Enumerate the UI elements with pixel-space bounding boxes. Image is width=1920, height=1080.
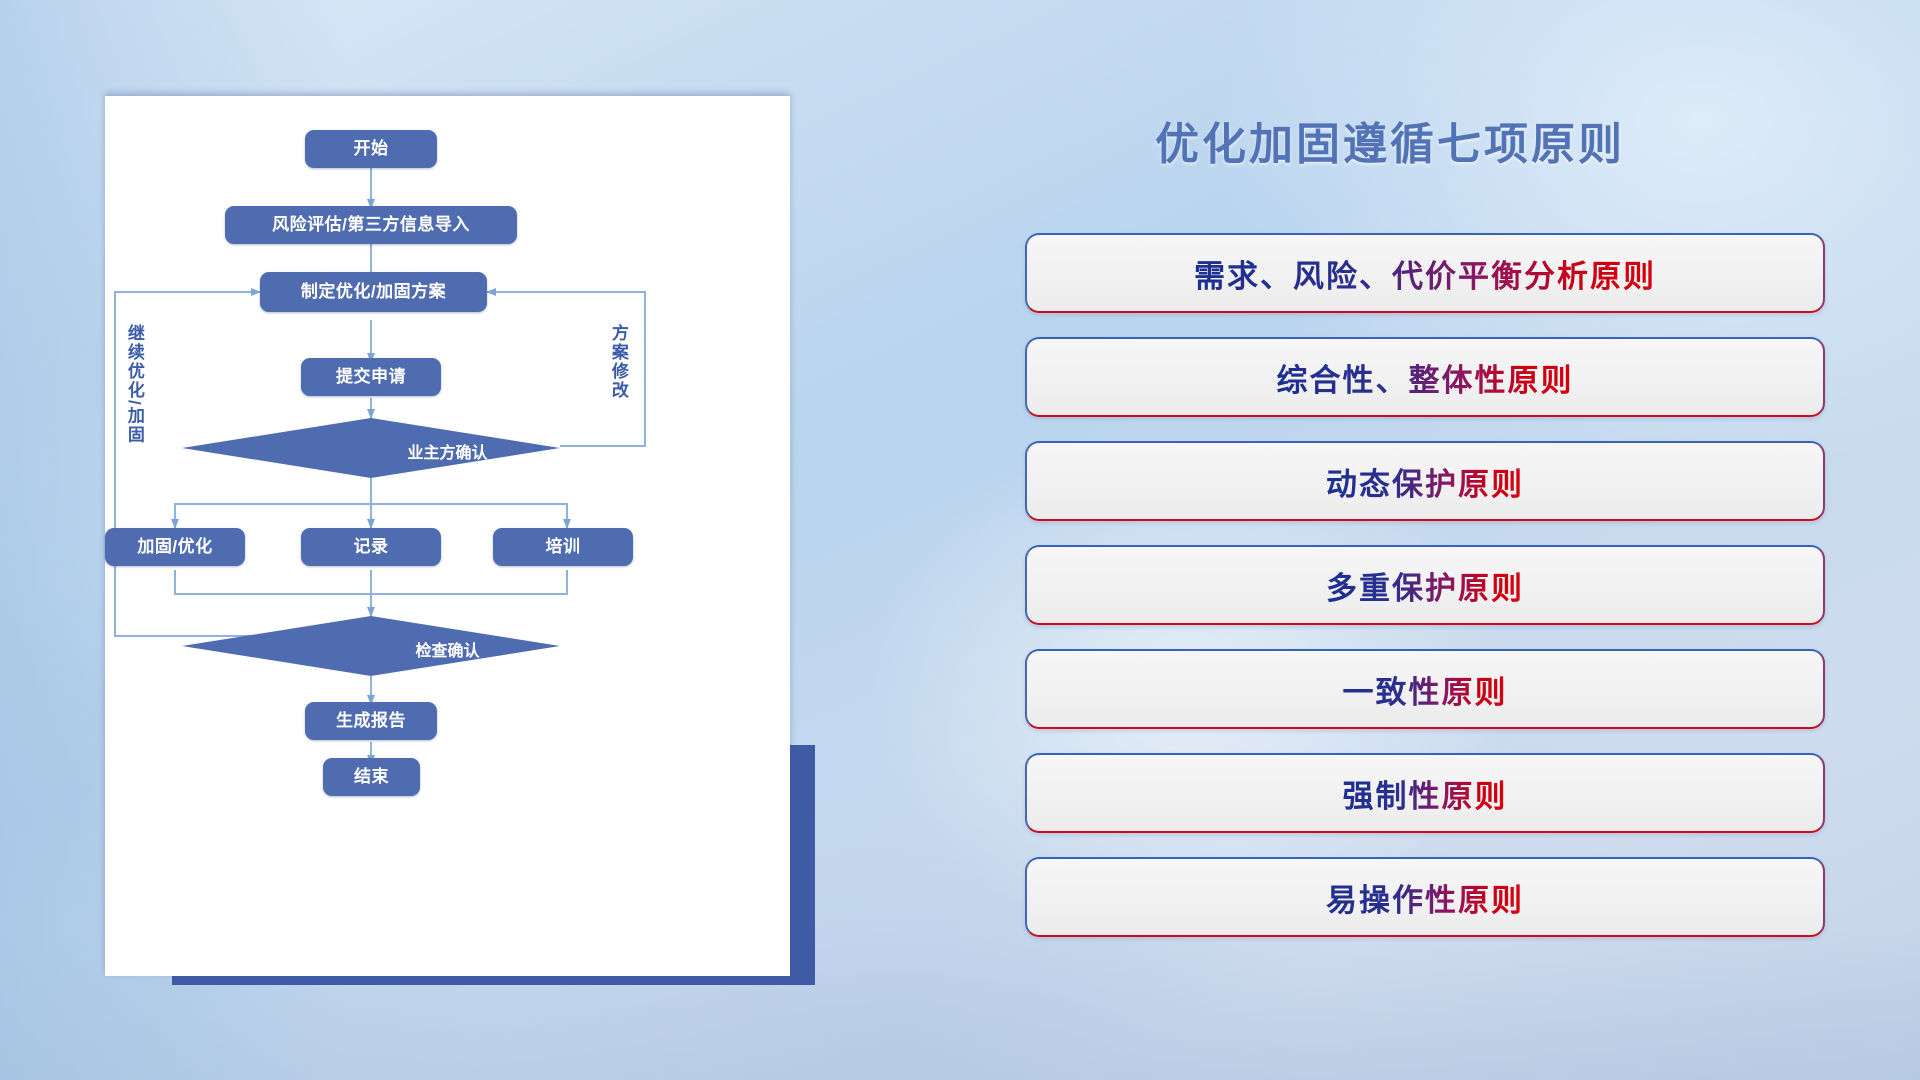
principle-label: 多重保护原则 — [1326, 563, 1524, 608]
flow-node-owner-label: 业主方确认 — [105, 439, 790, 463]
flow-node-submit[interactable]: 提交申请 — [301, 358, 441, 396]
flow-node-label: 风险评估/第三方信息导入 — [272, 216, 470, 235]
edge-label-continue-optimize: 继续优化/加固 — [125, 324, 143, 445]
principle-item[interactable]: 综合性、整体性原则 — [1025, 337, 1825, 417]
flow-node-risk[interactable]: 风险评估/第三方信息导入 — [225, 206, 517, 244]
flow-node-check-label: 检查确认 — [105, 637, 790, 661]
principle-item[interactable]: 多重保护原则 — [1025, 545, 1825, 625]
flow-node-report[interactable]: 生成报告 — [305, 702, 437, 740]
flow-node-end[interactable]: 结束 — [323, 758, 420, 796]
principle-label: 一致性原则 — [1343, 667, 1508, 712]
principle-label: 综合性、整体性原则 — [1277, 355, 1574, 400]
principle-item[interactable]: 需求、风险、代价平衡分析原则 — [1025, 233, 1825, 313]
flow-node-training[interactable]: 培训 — [493, 528, 633, 566]
principle-item[interactable]: 一致性原则 — [1025, 649, 1825, 729]
edge-label-plan-revision: 方案修改 — [609, 324, 627, 400]
principles-list: 需求、风险、代价平衡分析原则 综合性、整体性原则 动态保护原则 多重保护原则 一… — [1025, 233, 1825, 961]
flow-node-label: 结束 — [354, 768, 389, 787]
principle-label: 强制性原则 — [1343, 771, 1508, 816]
flow-node-record[interactable]: 记录 — [301, 528, 441, 566]
principle-label: 需求、风险、代价平衡分析原则 — [1194, 251, 1656, 296]
flowchart-card: 开始 风险评估/第三方信息导入 制定优化/加固方案 提交申请 业主方确认 加固/… — [105, 96, 790, 976]
flow-node-label: 开始 — [354, 140, 389, 159]
flow-node-label: 提交申请 — [336, 368, 406, 387]
page-title: 优化加固遵循七项原则 — [1155, 108, 1625, 172]
principle-item[interactable]: 强制性原则 — [1025, 753, 1825, 833]
flow-node-label: 生成报告 — [336, 712, 406, 731]
principle-label: 易操作性原则 — [1326, 875, 1524, 920]
flow-node-start[interactable]: 开始 — [305, 130, 437, 168]
flow-node-label: 制定优化/加固方案 — [301, 283, 446, 302]
principle-label: 动态保护原则 — [1326, 459, 1524, 504]
principle-item[interactable]: 易操作性原则 — [1025, 857, 1825, 937]
flow-node-reinforce[interactable]: 加固/优化 — [105, 528, 245, 566]
flow-node-label: 培训 — [546, 538, 581, 557]
principle-item[interactable]: 动态保护原则 — [1025, 441, 1825, 521]
flow-node-label: 加固/优化 — [137, 538, 212, 557]
flow-node-plan[interactable]: 制定优化/加固方案 — [260, 272, 487, 312]
flow-node-label: 记录 — [354, 538, 389, 557]
